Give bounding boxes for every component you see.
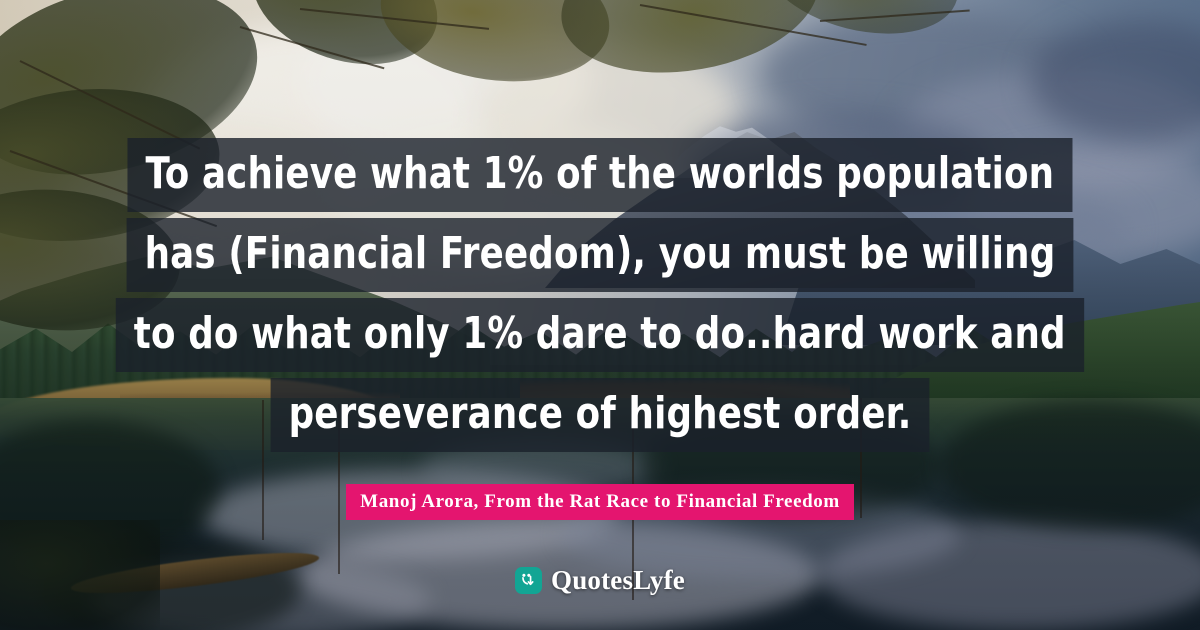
quote-line: To achieve what 1% of the worlds populat… [128, 138, 1073, 212]
logo-wordmark: QuotesLyfe [551, 567, 685, 594]
quote-text-block: To achieve what 1% of the worlds populat… [0, 138, 1200, 458]
quote-line: has (Financial Freedom), you must be wil… [127, 218, 1074, 292]
quote-mark-icon [515, 567, 542, 594]
quote-line: to do what only 1% dare to do..hard work… [116, 298, 1084, 372]
quoteslyfe-logo[interactable]: QuotesLyfe [515, 567, 685, 594]
quote-attribution: Manoj Arora, From the Rat Race to Financ… [346, 484, 854, 520]
quote-card: To achieve what 1% of the worlds populat… [0, 0, 1200, 630]
quote-line: perseverance of highest order. [271, 378, 930, 452]
quote-content: To achieve what 1% of the worlds populat… [0, 0, 1200, 630]
